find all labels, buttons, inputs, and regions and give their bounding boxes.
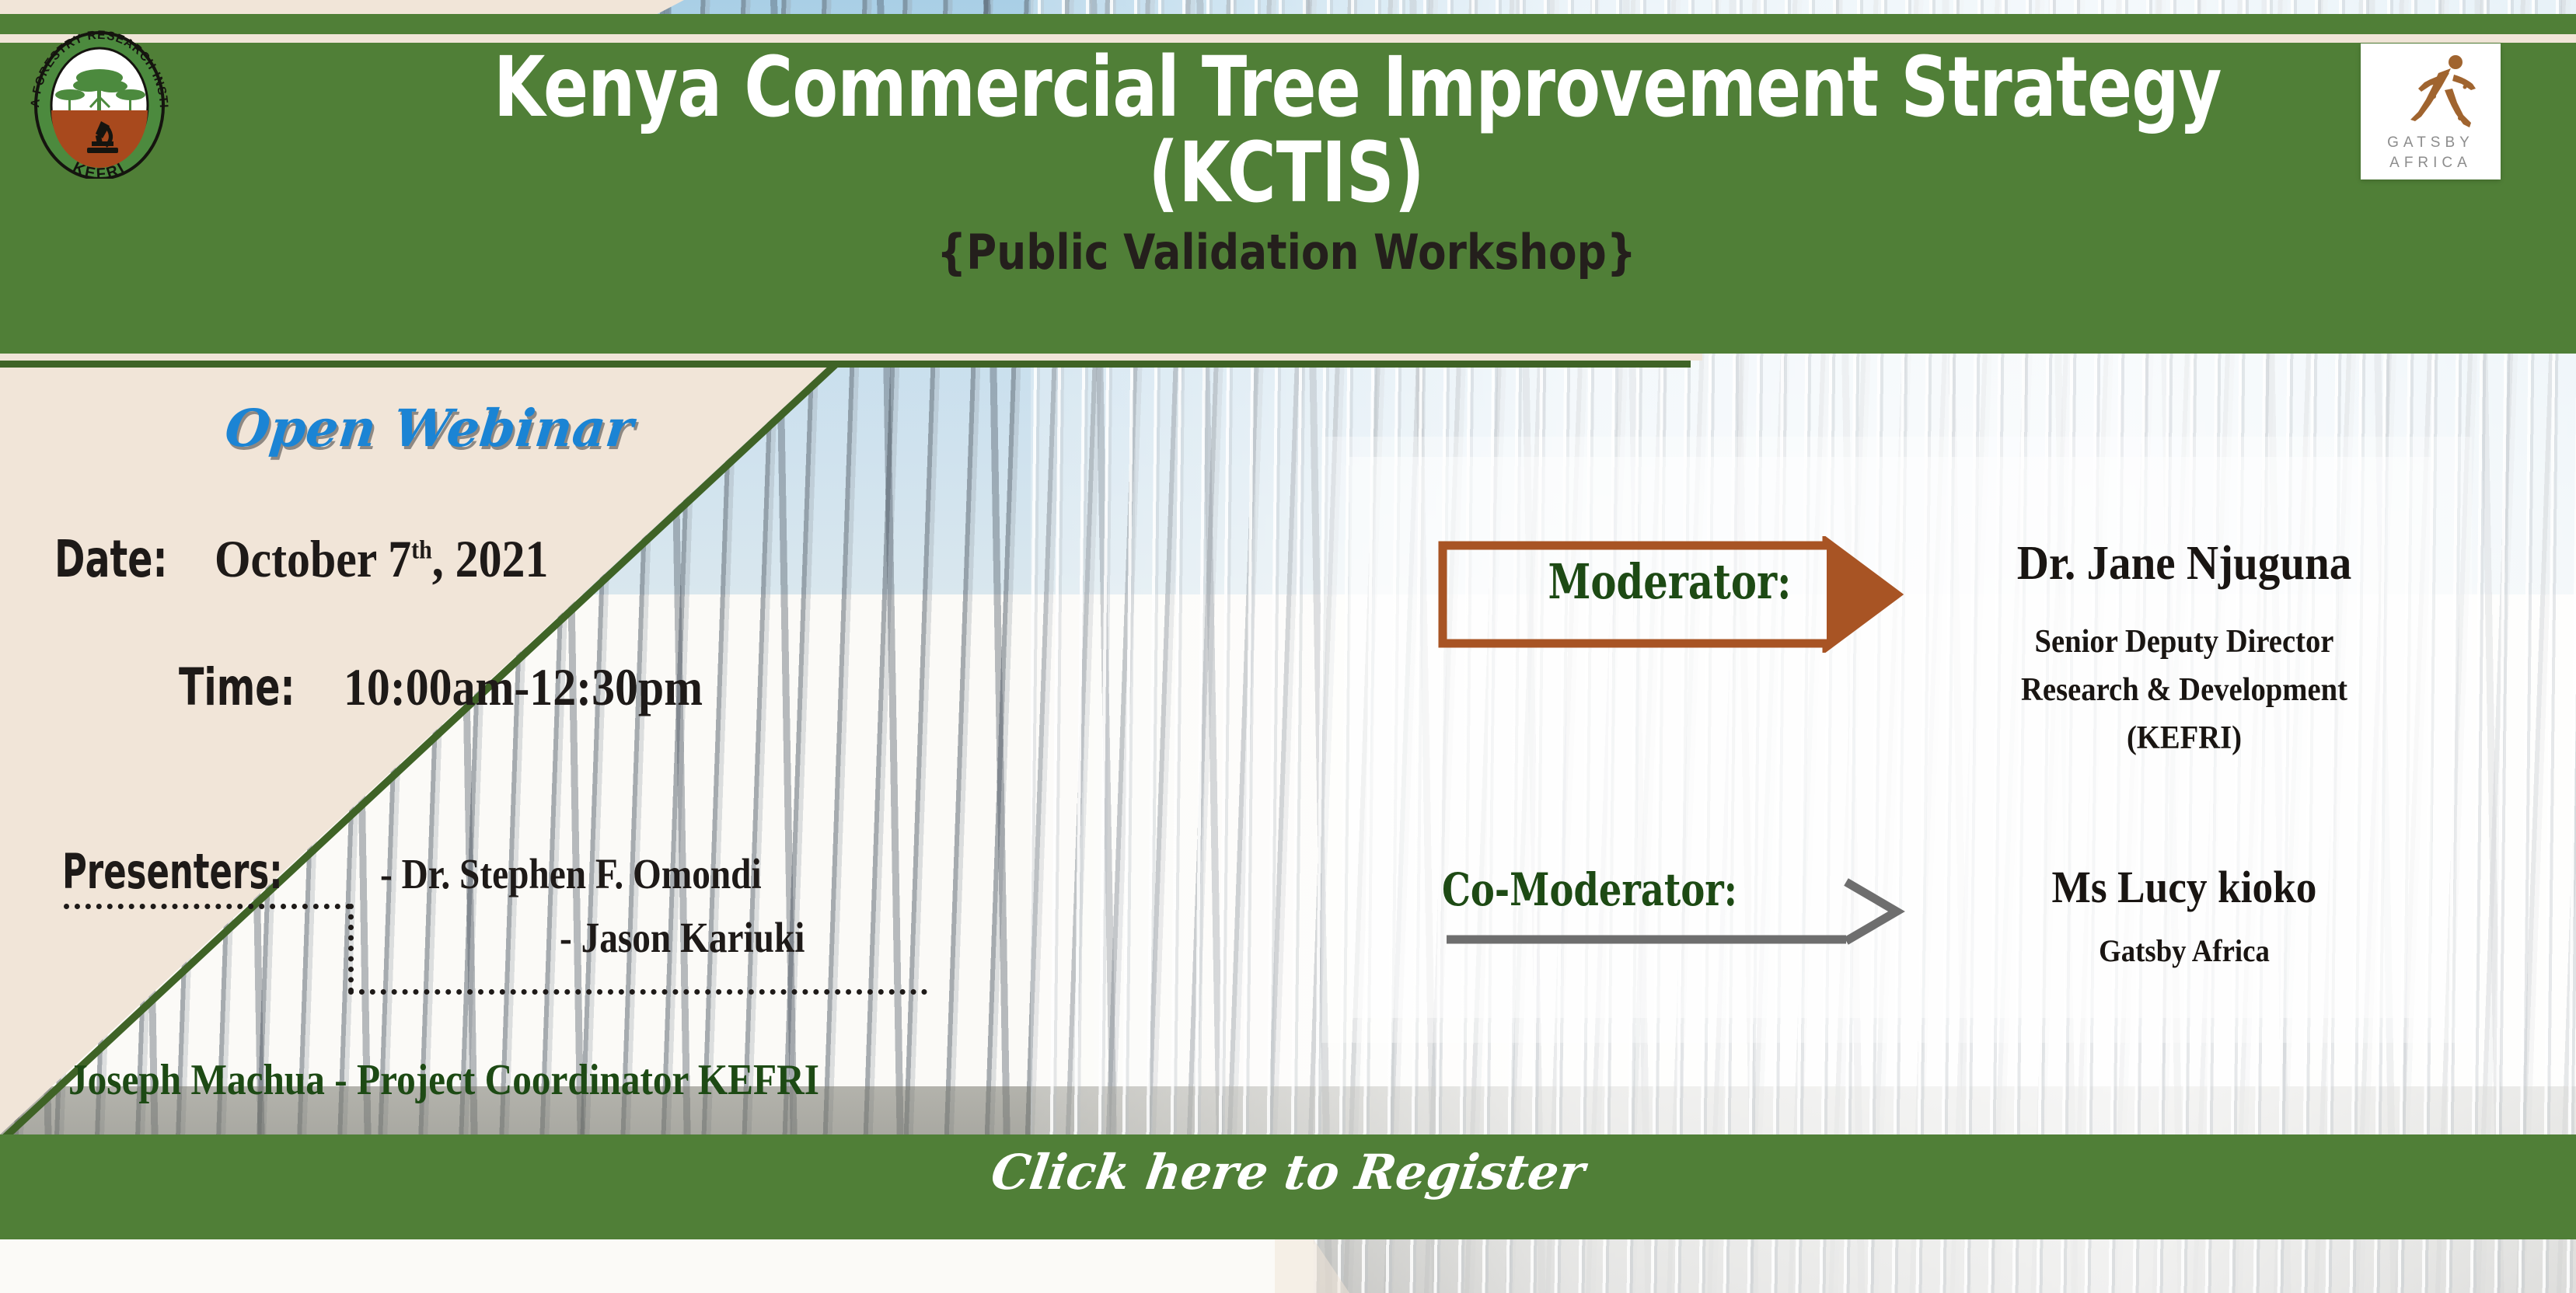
moderator-label: Moderator: xyxy=(1496,553,1844,610)
page-title-line2: (KCTIS) xyxy=(494,131,2079,216)
presenters-label: Presenters: xyxy=(62,843,283,900)
gatsby-wordmark: GATSBY AFRICA xyxy=(2361,133,2501,173)
date-row: Date: October 7th, 2021 xyxy=(54,528,594,590)
header-title-block: Kenya Commercial Tree Improvement Strate… xyxy=(295,45,2278,281)
moderator-banner: Moderator: xyxy=(1438,536,1935,653)
presenters-dotted-line-vertical xyxy=(348,904,354,993)
comoderator-org: Gatsby Africa xyxy=(1956,932,2414,969)
presenter-1: - Dr. Stephen F. Omondi xyxy=(380,849,762,898)
comoderator-label: Co-Moderator: xyxy=(1442,863,1803,916)
footer-below-fill xyxy=(0,1239,1314,1293)
webinar-poster: KENYA FORESTRY RESEARCH INSTITUTE KEFRI … xyxy=(0,0,2576,1293)
presenter-2: - Jason Kariuki xyxy=(560,913,805,962)
time-row: Time: 10:00am-12:30pm xyxy=(179,657,752,718)
presenters-dotted-line-top xyxy=(64,904,351,909)
gatsby-wordmark-line1: GATSBY xyxy=(2361,133,2501,153)
open-webinar-label: Open Webinar xyxy=(222,398,636,458)
moderator-role-line2: Research & Development xyxy=(1956,666,2414,714)
project-coordinator-label: Joseph Machua - Project Coordinator KEFR… xyxy=(68,1055,819,1105)
kefri-logo: KENYA FORESTRY RESEARCH INSTITUTE KEFRI xyxy=(20,30,179,179)
presenters-row: Presenters: - Dr. Stephen F. Omondi xyxy=(62,843,824,900)
gatsby-africa-logo: GATSBY AFRICA xyxy=(2361,44,2501,179)
presenters-dotted-line-bottom xyxy=(348,989,927,995)
register-link[interactable]: Click here to Register xyxy=(0,1144,2576,1201)
comoderator-name: Ms Lucy kioko xyxy=(1956,861,2414,913)
header-cream-hairline-bottom xyxy=(0,354,1702,361)
moderator-role-line3: (KEFRI) xyxy=(1956,714,2414,762)
gatsby-wordmark-line2: AFRICA xyxy=(2361,153,2501,173)
moderator-name: Dr. Jane Njuguna xyxy=(1956,536,2414,591)
page-title-line1: Kenya Commercial Tree Improvement Strate… xyxy=(494,45,2079,131)
header-dark-green-line xyxy=(0,361,1691,368)
time-value: 10:00am-12:30pm xyxy=(344,657,703,718)
runner-icon xyxy=(2384,50,2493,135)
comoderator-banner: Co-Moderator: xyxy=(1442,859,1939,960)
top-green-band xyxy=(0,14,2576,34)
page-subtitle: {Public Validation Workshop} xyxy=(435,224,2139,281)
date-label: Date: xyxy=(54,529,167,589)
moderator-role: Senior Deputy Director Research & Develo… xyxy=(1956,618,2414,762)
moderator-role-line1: Senior Deputy Director xyxy=(1956,618,2414,666)
date-value: October 7th, 2021 xyxy=(215,528,548,590)
time-label: Time: xyxy=(179,657,295,717)
